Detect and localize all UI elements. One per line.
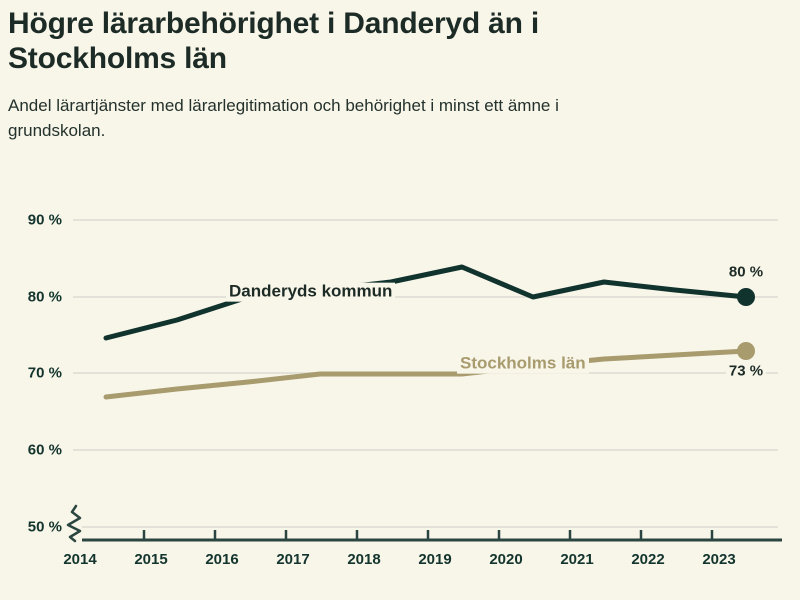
chart-svg <box>0 0 800 600</box>
x-axis-label-2019: 2019 <box>405 551 465 568</box>
series-line-danderyds-kommun <box>106 267 746 338</box>
y-axis-label-70: 70 % <box>8 365 62 382</box>
x-axis-label-2014: 2014 <box>50 551 110 568</box>
x-axis-label-2018: 2018 <box>334 551 394 568</box>
value-label-series2: 73 % <box>726 363 766 380</box>
y-axis-label-50: 50 % <box>8 519 62 536</box>
y-axis-break-icon <box>64 506 82 542</box>
x-axis-label-2023: 2023 <box>689 551 749 568</box>
x-axis <box>73 530 782 540</box>
series2-end-marker <box>737 342 755 360</box>
x-axis-label-2021: 2021 <box>547 551 607 568</box>
y-axis-label-60: 60 % <box>8 442 62 459</box>
x-axis-label-2015: 2015 <box>121 551 181 568</box>
x-axis-label-2020: 2020 <box>476 551 536 568</box>
y-axis-label-90: 90 % <box>8 212 62 229</box>
x-axis-label-2017: 2017 <box>263 551 323 568</box>
series-label-danderyds-kommun: Danderyds kommun <box>226 283 395 302</box>
x-axis-label-2016: 2016 <box>192 551 252 568</box>
plot-area: 90 % 80 % 70 % 60 % 50 % 2014 2015 2016 … <box>0 0 800 600</box>
chart-container: Högre lärarbehörighet i Danderyd än i St… <box>0 0 800 600</box>
value-label-series1: 80 % <box>726 264 766 281</box>
y-axis-label-80: 80 % <box>8 289 62 306</box>
series1-end-marker <box>737 288 755 306</box>
series-label-stockholms-lan: Stockholms län <box>457 355 589 374</box>
x-axis-label-2022: 2022 <box>618 551 678 568</box>
